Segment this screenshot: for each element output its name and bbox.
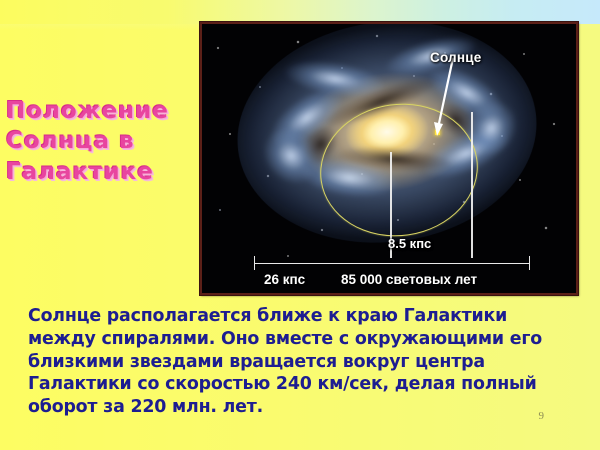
galaxy-photo: Солнце 8.5 кпс 26 кпс 85 000 световых ле… (202, 24, 576, 293)
presentation-slide: Положение Солнца в Галактике (0, 0, 600, 450)
title-line-2: Солнца в (6, 126, 196, 156)
label-galaxy-diameter-lightyears: 85 000 световых лет (341, 272, 477, 287)
page-number: 9 (539, 410, 545, 422)
sun-label: Солнце (430, 50, 481, 65)
galaxy-image-frame: Солнце 8.5 кпс 26 кпс 85 000 световых ле… (200, 22, 578, 295)
scale-bar-cap-right (529, 256, 530, 270)
guide-line-sun (471, 112, 473, 258)
title-line-1: Положение (6, 96, 196, 126)
scale-bar-cap-left (254, 256, 255, 270)
body-paragraph: Солнце располагается ближе к краю Галакт… (28, 305, 573, 419)
title-line-3: Галактике (6, 157, 196, 187)
sun-position-marker (435, 130, 440, 135)
scale-bar (254, 256, 530, 270)
label-sun-distance: 8.5 кпс (388, 236, 431, 251)
scale-bar-rule (254, 263, 530, 264)
label-galaxy-radius: 26 кпс (264, 272, 305, 287)
slide-title: Положение Солнца в Галактике (6, 96, 196, 187)
